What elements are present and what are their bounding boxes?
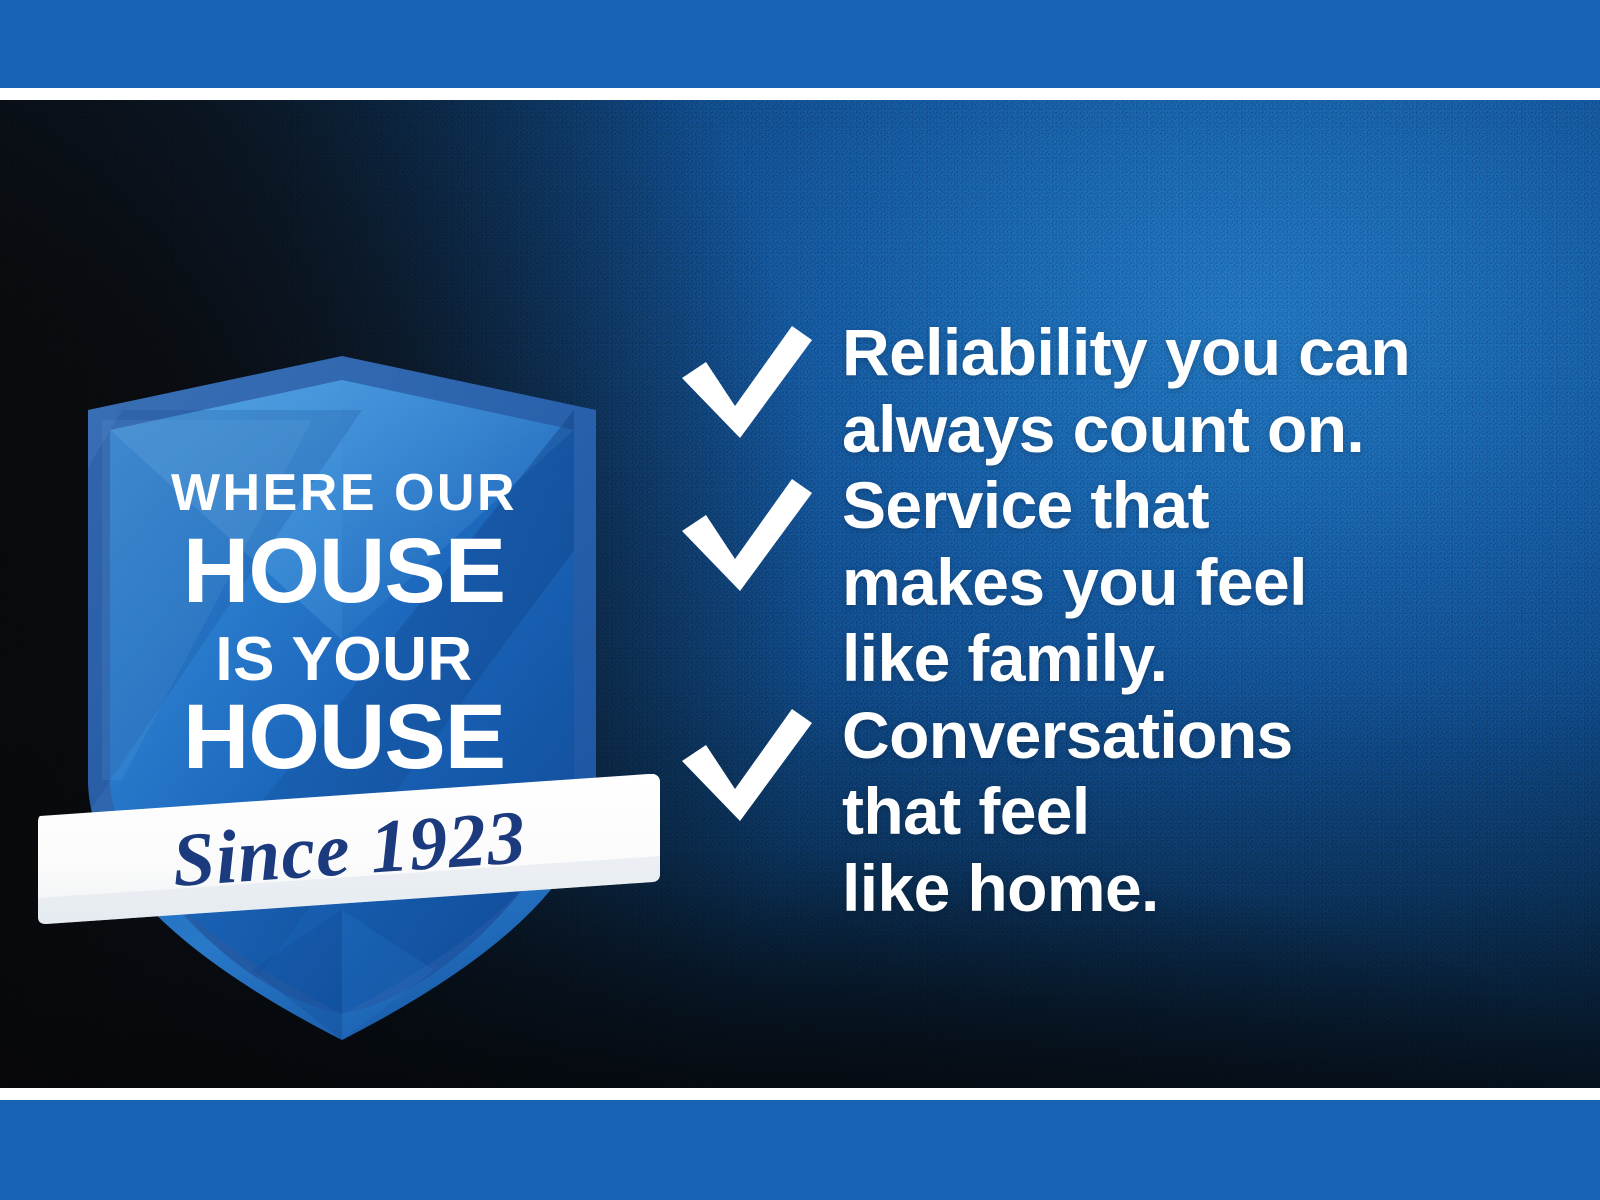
benefit-item-1: Reliability you can always count on. <box>676 314 1516 467</box>
emblem-tagline-line-3: IS YOUR <box>215 625 472 694</box>
check-icon <box>676 707 816 823</box>
emblem-tagline: WHERE OUR HOUSE IS YOUR HOUSE <box>171 464 517 788</box>
poster-canvas: WHERE OUR HOUSE IS YOUR HOUSE Since 1923 <box>0 0 1600 1200</box>
benefit-text-1: Reliability you can always count on. <box>842 314 1410 467</box>
shield-emblem: WHERE OUR HOUSE IS YOUR HOUSE Since 1923 <box>62 350 622 1050</box>
check-icon <box>676 477 816 593</box>
benefits-list: Reliability you can always count on. Ser… <box>676 300 1516 926</box>
bottom-brand-bar <box>0 1100 1600 1200</box>
emblem-tagline-line-4: HOUSE <box>183 686 505 788</box>
emblem-tagline-line-2: HOUSE <box>183 520 505 622</box>
benefit-text-3: Conversations that feel like home. <box>842 697 1293 927</box>
benefit-item-3: Conversations that feel like home. <box>676 697 1516 927</box>
top-brand-bar <box>0 0 1600 88</box>
emblem-tagline-line-1: WHERE OUR <box>171 464 517 522</box>
benefit-text-2: Service that makes you feel like family. <box>842 467 1307 697</box>
main-panel: WHERE OUR HOUSE IS YOUR HOUSE Since 1923 <box>0 100 1600 1088</box>
benefit-item-2: Service that makes you feel like family. <box>676 467 1516 697</box>
check-icon <box>676 324 816 440</box>
